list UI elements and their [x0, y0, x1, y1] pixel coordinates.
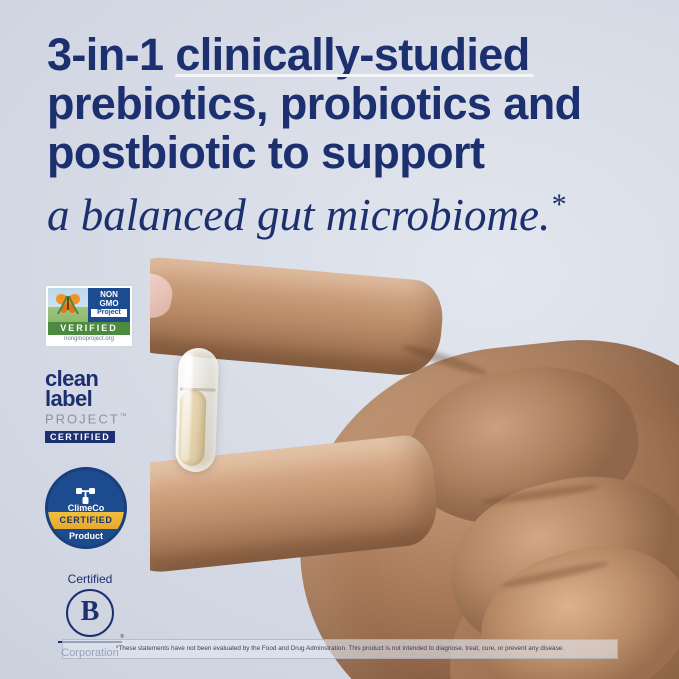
probiotic-capsule	[175, 347, 219, 472]
headline-block: 3-in-1 clinically-studied prebiotics, pr…	[47, 30, 647, 243]
bcorp-b-letter: B	[66, 589, 114, 637]
headline-underlined-phrase: clinically-studied	[175, 30, 529, 79]
non-gmo-wordmark: NON GMO Project	[88, 288, 130, 322]
badge-climeco-certified-product: ClimeCo CERTIFIED Product	[45, 467, 127, 549]
climeco-product-label: Product	[48, 531, 124, 541]
clean-label-word-project: PROJECT™	[45, 409, 141, 427]
non-gmo-word-non: NON	[88, 290, 130, 299]
badge-non-gmo-project-verified: NON GMO Project VERIFIED nongmoproject.o…	[45, 285, 133, 347]
clean-label-word-label: label	[45, 389, 141, 409]
headline-line-2: prebiotics, probiotics and	[47, 79, 647, 128]
climeco-certified-band: CERTIFIED	[45, 512, 127, 529]
certification-badge-column: NON GMO Project VERIFIED nongmoproject.o…	[45, 285, 149, 679]
badge-clean-label-project: clean label PROJECT™ CERTIFIED	[45, 369, 141, 445]
headline-italic-text: a balanced gut microbiome.	[47, 190, 550, 240]
non-gmo-verified-bar: VERIFIED	[48, 322, 130, 335]
non-gmo-top-row: NON GMO Project	[48, 288, 130, 322]
headline-line-3: postbiotic to support	[47, 128, 647, 177]
headline-line-1: 3-in-1 clinically-studied	[47, 30, 647, 79]
fda-disclaimer: *These statements have not been evaluate…	[62, 639, 618, 659]
non-gmo-word-project: Project	[91, 309, 127, 317]
trademark-symbol: ™	[120, 413, 129, 420]
clean-label-certified-chip: CERTIFIED	[45, 431, 115, 443]
bcorp-certified-text: Certified	[45, 571, 135, 587]
butterfly-glyph	[53, 292, 83, 316]
headline-line-4: a balanced gut microbiome.*	[47, 177, 647, 243]
hand-holding-capsule-photo	[150, 250, 679, 679]
clean-label-project-text: PROJECT	[45, 411, 120, 426]
headline-asterisk: *	[550, 188, 565, 221]
headline-prefix: 3-in-1	[47, 29, 175, 80]
butterfly-icon	[48, 288, 88, 322]
non-gmo-url: nongmoproject.org	[48, 335, 130, 344]
non-gmo-word-gmo: GMO	[88, 299, 130, 308]
product-marketing-image: 3-in-1 clinically-studied prebiotics, pr…	[0, 0, 679, 679]
